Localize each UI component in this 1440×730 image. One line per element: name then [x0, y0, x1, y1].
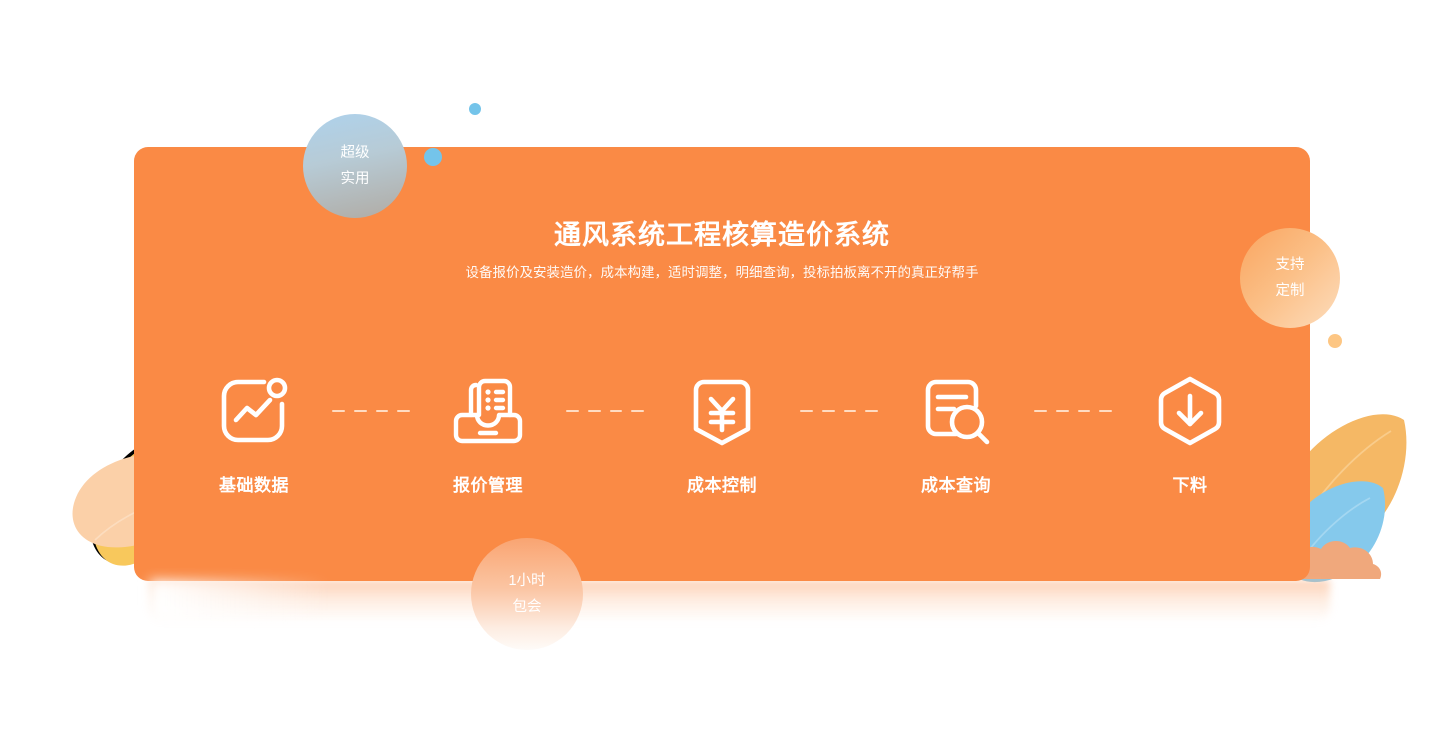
document-search-icon [914, 369, 998, 453]
badge-line-2: 实用 [341, 166, 370, 192]
card-shadow-left-fade [150, 580, 330, 622]
badge-line-1: 1小时 [508, 568, 545, 594]
feature-item-cost-query[interactable]: 成本查询 [886, 369, 1026, 496]
feature-label: 报价管理 [453, 471, 523, 496]
feature-label: 成本控制 [687, 471, 757, 496]
feature-card: 通风系统工程核算造价系统 设备报价及安装造价，成本构建，适时调整，明细查询，投标… [134, 147, 1310, 581]
page-subtitle: 设备报价及安装造价，成本构建，适时调整，明细查询，投标拍板离不开的真正好帮手 [462, 261, 982, 285]
decoration-dot-blue-small [469, 103, 481, 115]
feature-item-cost-control[interactable]: 成本控制 [652, 369, 792, 496]
decoration-dot-orange-small [1328, 334, 1342, 348]
badge-support-custom[interactable]: 支持 定制 [1240, 228, 1340, 328]
feature-label: 基础数据 [219, 471, 289, 496]
connector-dashes-1 [332, 369, 410, 453]
promo-banner: 通风系统工程核算造价系统 设备报价及安装造价，成本构建，适时调整，明细查询，投标… [0, 0, 1440, 730]
feature-label: 下料 [1173, 471, 1208, 496]
chart-square-icon [212, 369, 296, 453]
hexagon-down-icon [1148, 369, 1232, 453]
badge-one-hour[interactable]: 1小时 包会 [471, 538, 583, 650]
connector-dashes-4 [1034, 369, 1112, 453]
feature-list: 基础数据 [184, 369, 1260, 496]
feature-item-material-cutting[interactable]: 下料 [1120, 369, 1260, 496]
feature-item-basic-data[interactable]: 基础数据 [184, 369, 324, 496]
badge-line-2: 包会 [513, 594, 542, 620]
decoration-dot-blue-large [424, 148, 442, 166]
badge-line-2: 定制 [1276, 278, 1305, 304]
feature-label: 成本查询 [921, 471, 991, 496]
connector-dashes-2 [566, 369, 644, 453]
badge-line-1: 超级 [341, 140, 370, 166]
badge-super-useful[interactable]: 超级 实用 [303, 114, 407, 218]
badge-line-1: 支持 [1276, 252, 1305, 278]
yuan-banner-icon [680, 369, 764, 453]
connector-dashes-3 [800, 369, 878, 453]
page-title: 通风系统工程核算造价系统 [134, 213, 1310, 252]
feature-item-quote-manage[interactable]: 报价管理 [418, 369, 558, 496]
inbox-document-icon [446, 369, 530, 453]
